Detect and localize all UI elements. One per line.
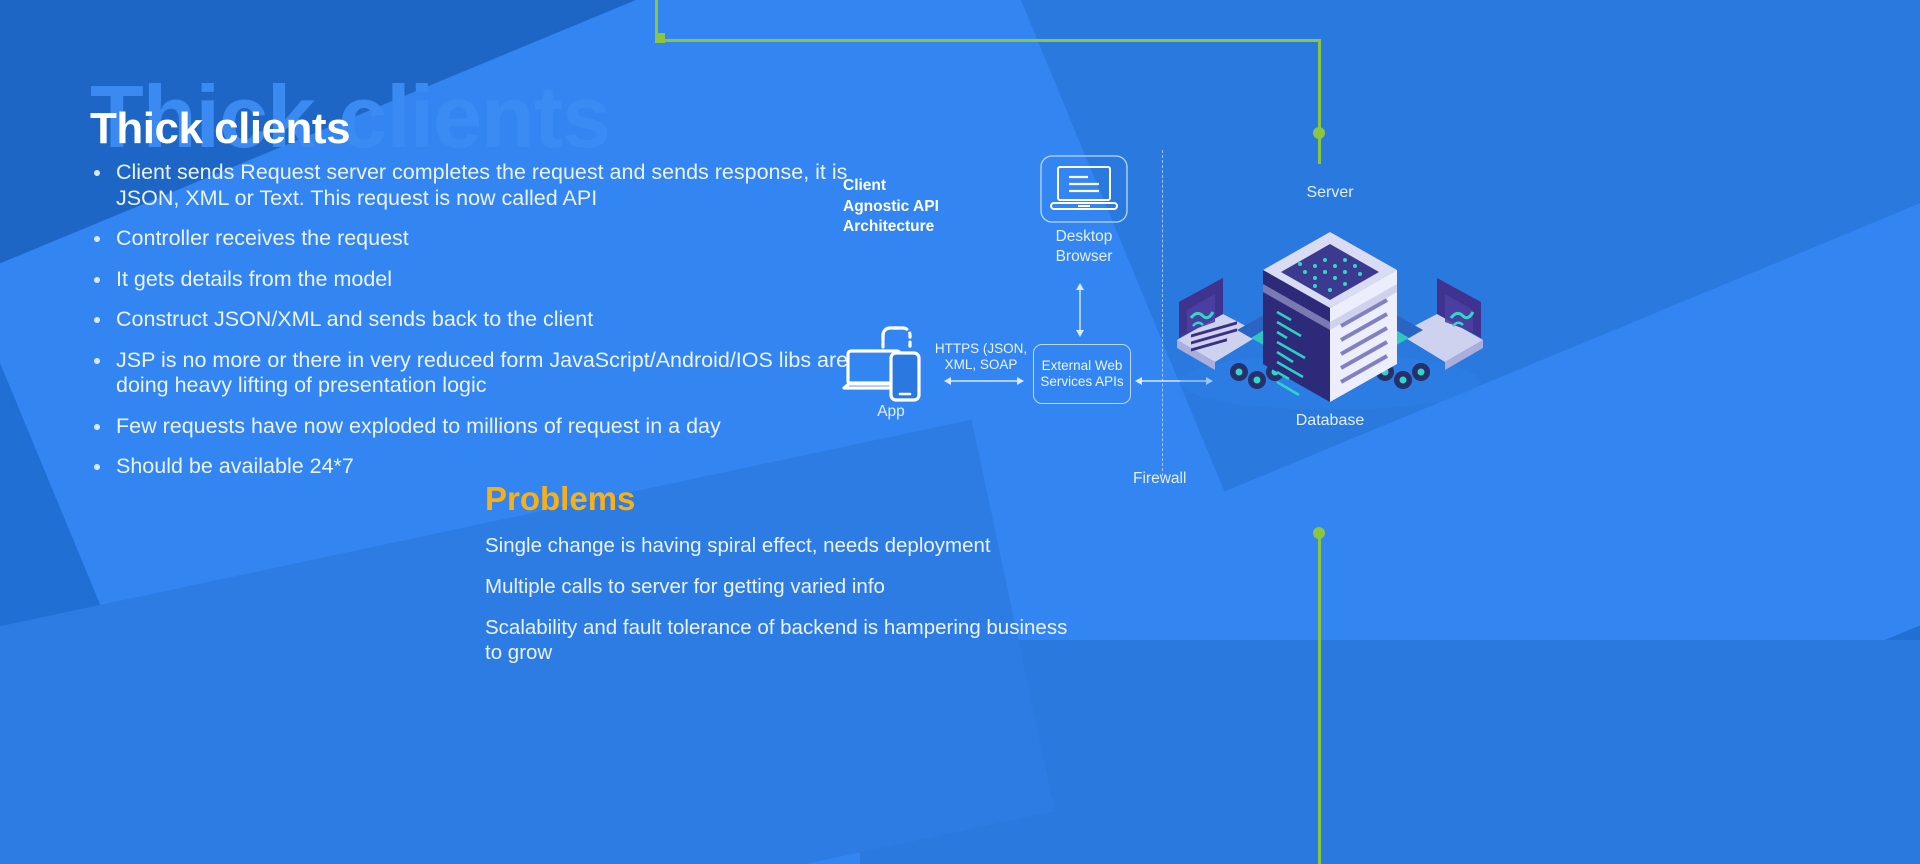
- list-item: It gets details from the model: [90, 267, 850, 293]
- connector-dot-top: [1313, 127, 1325, 139]
- list-item: Controller receives the request: [90, 226, 850, 252]
- list-item: Construct JSON/XML and sends back to the…: [90, 307, 850, 333]
- api-box-line-1: External Web: [1040, 358, 1123, 374]
- problems-heading: Problems: [485, 480, 635, 518]
- problems-list: Single change is having spiral effect, n…: [485, 533, 1085, 681]
- protocol-label-line-1: HTTPS (JSON,: [933, 341, 1029, 357]
- diagram-title: Client Agnostic API Architecture: [843, 176, 939, 238]
- list-item: Multiple calls to server for getting var…: [485, 574, 1085, 599]
- list-item: Client sends Request server completes th…: [90, 160, 850, 211]
- list-item: Few requests have now exploded to millio…: [90, 414, 850, 440]
- slide-canvas: Thick clients Thick clients Client sends…: [0, 0, 1920, 864]
- server-database-illustration: [1165, 222, 1495, 412]
- desktop-browser-label: Desktop Browser: [1030, 227, 1138, 267]
- app-to-api-double-arrow-icon: [944, 375, 1024, 387]
- list-item: Single change is having spiral effect, n…: [485, 533, 1085, 558]
- connector-wire-bottom-vertical: [1318, 533, 1321, 864]
- page-title: Thick clients: [90, 104, 350, 154]
- list-item: Scalability and fault tolerance of backe…: [485, 615, 1085, 665]
- connector-wire-top-horizontal: [660, 39, 1321, 42]
- diagram-title-line-3: Architecture: [843, 217, 939, 238]
- firewall-divider-line: [1162, 150, 1163, 476]
- protocol-label: HTTPS (JSON, XML, SOAP: [933, 341, 1029, 373]
- list-item: Should be available 24*7: [90, 454, 850, 480]
- desktop-browser-label-line-1: Desktop: [1030, 227, 1138, 247]
- bullet-list: Client sends Request server completes th…: [90, 160, 850, 495]
- api-box-line-2: Services APIs: [1040, 374, 1123, 390]
- diagram-title-line-1: Client: [843, 176, 939, 197]
- diagram-title-line-2: Agnostic API: [843, 197, 939, 218]
- desktop-browser-icon: [1040, 155, 1128, 223]
- list-item: JSP is no more or there in very reduced …: [90, 348, 850, 399]
- app-label: App: [843, 402, 939, 422]
- database-label: Database: [1250, 411, 1410, 431]
- vertical-double-arrow-icon: [1073, 283, 1087, 337]
- external-web-services-api-box: External Web Services APIs: [1033, 344, 1131, 404]
- protocol-label-line-2: XML, SOAP: [933, 357, 1029, 373]
- connector-wire-top-down: [1318, 40, 1321, 164]
- app-device-icon: [843, 325, 939, 403]
- connector-wire-top-vertical: [655, 0, 658, 36]
- server-label: Server: [1250, 183, 1410, 203]
- firewall-label: Firewall: [1133, 470, 1186, 488]
- desktop-browser-label-line-2: Browser: [1030, 247, 1138, 267]
